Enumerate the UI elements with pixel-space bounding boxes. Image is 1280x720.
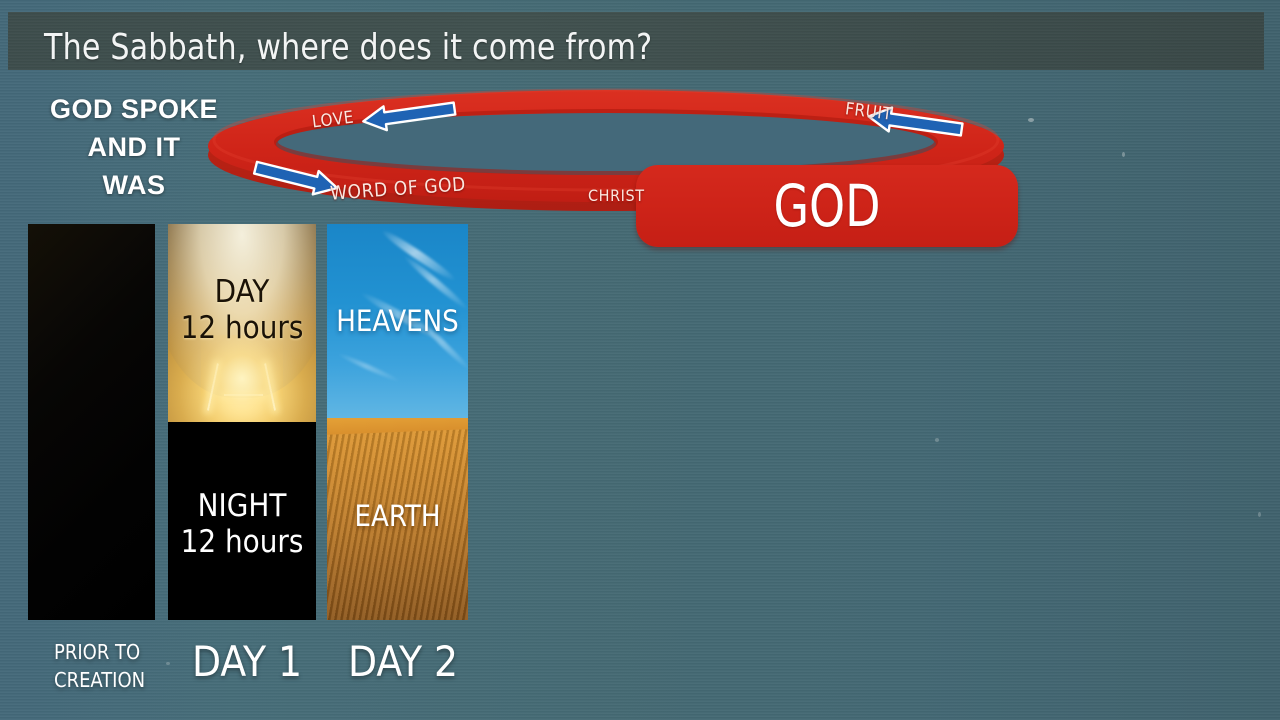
horizon-line bbox=[327, 418, 468, 435]
label-day-hours: 12 hours bbox=[168, 310, 316, 346]
label-earth: EARTH bbox=[327, 499, 468, 533]
panel-day-1: DAY 12 hours NIGHT 12 hours bbox=[168, 224, 316, 620]
dust-speck bbox=[935, 438, 939, 442]
love-arrow-icon bbox=[362, 97, 456, 134]
dust-speck bbox=[1258, 512, 1261, 517]
god-center-label: GOD bbox=[659, 171, 995, 241]
bulb-glow bbox=[201, 335, 284, 422]
dust-speck bbox=[1122, 152, 1125, 157]
panel-prior-to-creation bbox=[28, 224, 155, 620]
cirrus-cloud bbox=[337, 352, 401, 384]
caption-day-2: DAY 2 bbox=[348, 636, 458, 688]
label-day: DAY bbox=[168, 274, 316, 310]
page-title: The Sabbath, where does it come from? bbox=[44, 28, 652, 68]
god-cycle-diagram: GOD bbox=[206, 78, 1046, 228]
label-night-hours: 12 hours bbox=[168, 524, 316, 560]
caption-prior-line-2: CREATION bbox=[54, 666, 145, 694]
caption-prior-line-1: PRIOR TO bbox=[54, 638, 145, 666]
dust-speck bbox=[166, 662, 170, 665]
label-heavens: HEAVENS bbox=[327, 304, 468, 338]
ring-label-christ: CHRIST bbox=[588, 186, 645, 205]
label-night: NIGHT bbox=[168, 488, 316, 524]
slide-canvas: The Sabbath, where does it come from? GO… bbox=[0, 0, 1280, 720]
word-of-god-arrow-icon bbox=[253, 156, 340, 200]
caption-prior-to-creation: PRIOR TO CREATION bbox=[54, 638, 145, 694]
title-bar: The Sabbath, where does it come from? bbox=[8, 12, 1264, 70]
cirrus-cloud bbox=[380, 228, 457, 284]
god-center-box: GOD bbox=[636, 165, 1018, 247]
panel-day-2: HEAVENS EARTH bbox=[327, 224, 468, 620]
caption-day-1: DAY 1 bbox=[192, 636, 302, 688]
